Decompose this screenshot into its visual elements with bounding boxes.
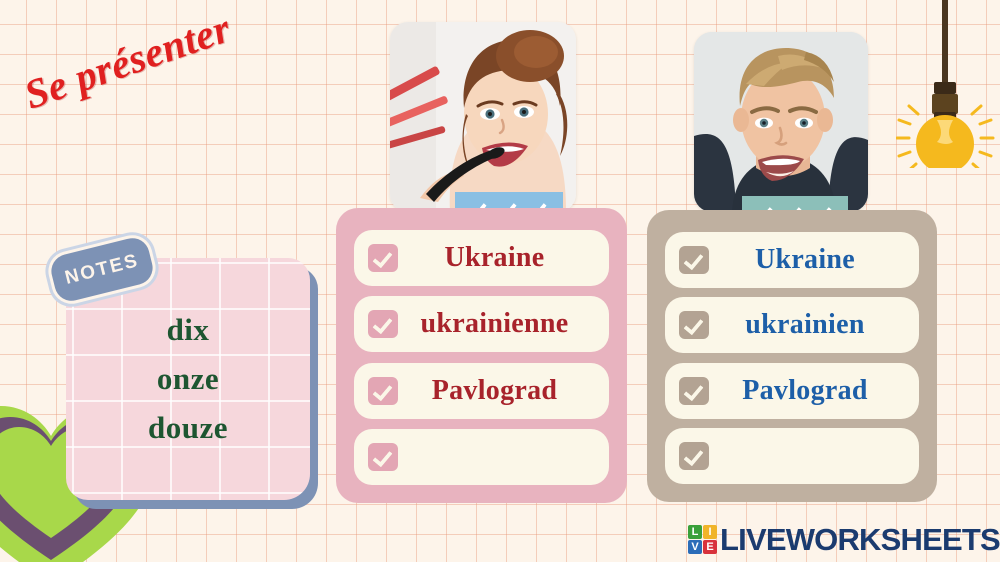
lightbulb-icon	[896, 0, 996, 168]
photo-woman	[390, 22, 576, 212]
answer-panel-woman: Ukraine ukrainienne Pavlograd	[336, 208, 627, 503]
worksheet-canvas: Se présenter dix onze douze NOTES	[0, 0, 1000, 562]
answer-rows: Ukraine ukrainien Pavlograd	[665, 232, 919, 484]
checkbox-checked-icon[interactable]	[368, 443, 398, 471]
checkbox-checked-icon[interactable]	[368, 310, 398, 338]
answer-text: ukrainienne	[398, 308, 609, 340]
checkbox-checked-icon[interactable]	[368, 377, 398, 405]
logo-wordmark: LIVEWORKSHEETS	[720, 524, 1000, 555]
answer-row[interactable]: ukrainien	[665, 297, 919, 353]
liveworksheets-logo[interactable]: L I V E LIVEWORKSHEETS	[688, 524, 1000, 555]
checkbox-checked-icon[interactable]	[679, 311, 709, 339]
checkbox-checked-icon[interactable]	[679, 442, 709, 470]
answer-text: Pavlograd	[398, 375, 609, 407]
logo-tile-i: I	[703, 525, 717, 539]
logo-tiles: L I V E	[688, 525, 717, 554]
checkbox-checked-icon[interactable]	[368, 244, 398, 272]
answer-row-empty[interactable]	[354, 429, 609, 485]
page-title: Se présenter	[18, 0, 308, 119]
answer-row[interactable]: Ukraine	[665, 232, 919, 288]
note-line: douze	[148, 410, 228, 446]
answer-text: Ukraine	[709, 244, 919, 276]
answer-row[interactable]: ukrainienne	[354, 296, 609, 352]
answer-row[interactable]: Pavlograd	[354, 363, 609, 419]
logo-tile-v: V	[688, 540, 702, 554]
photo-boy	[694, 32, 868, 212]
answer-rows: Ukraine ukrainienne Pavlograd	[354, 230, 609, 485]
logo-tile-l: L	[688, 525, 702, 539]
answer-panel-boy: Ukraine ukrainien Pavlograd	[647, 210, 937, 502]
checkbox-checked-icon[interactable]	[679, 377, 709, 405]
note-line: onze	[157, 361, 219, 397]
answer-row-empty[interactable]	[665, 428, 919, 484]
note-line: dix	[167, 312, 210, 348]
notes-card: dix onze douze NOTES	[66, 258, 316, 506]
notes-card-content: dix onze douze	[66, 258, 310, 500]
answer-text: ukrainien	[709, 309, 919, 341]
notes-badge-label: NOTES	[63, 250, 142, 290]
answer-row[interactable]: Pavlograd	[665, 363, 919, 419]
answer-text: Ukraine	[398, 242, 609, 274]
answer-row[interactable]: Ukraine	[354, 230, 609, 286]
answer-text: Pavlograd	[709, 375, 919, 407]
checkbox-checked-icon[interactable]	[679, 246, 709, 274]
logo-tile-e: E	[703, 540, 717, 554]
